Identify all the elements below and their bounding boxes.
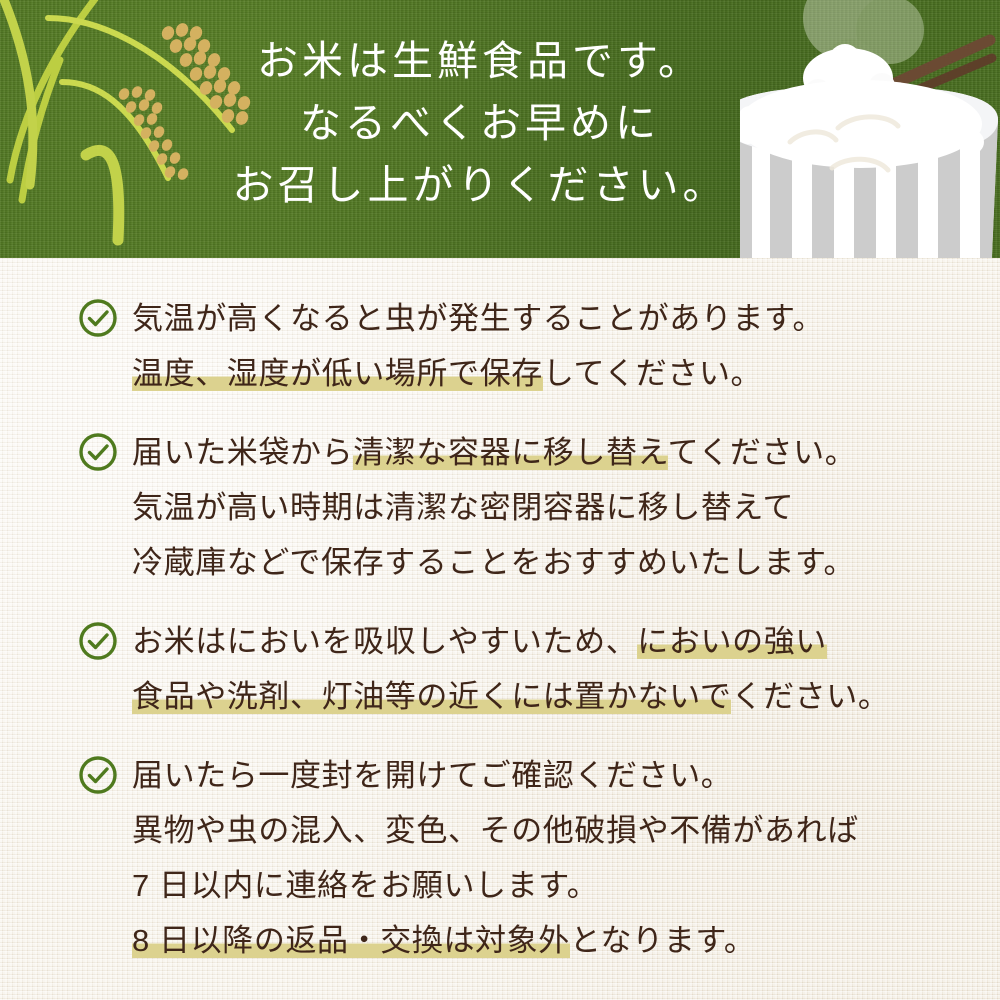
rice-storage-notice-page: お米は生鮮食品です。 なるべくお早めに お召し上がりください。	[0, 0, 1000, 1000]
notice-line: 異物や虫の混入、変色、その他破損や不備があれば	[132, 803, 1000, 858]
plain-text: てください。	[668, 435, 857, 470]
plain-text: お米はにおいを吸収しやすいため、	[132, 624, 637, 659]
plain-text: 異物や虫の混入、変色、その他破損や不備があれば	[132, 813, 859, 848]
notice-line: 気温が高くなると虫が発生することがあります。	[132, 291, 1000, 346]
notice-line: 気温が高い時期は清潔な密閉容器に移し替えて	[132, 480, 1000, 535]
check-circle-icon	[78, 432, 118, 472]
notice-item-text: 届いた米袋から清潔な容器に移し替えてください。気温が高い時期は清潔な密閉容器に移…	[132, 425, 1000, 590]
notice-line: 届いたら一度封を開けてご確認ください。	[132, 748, 1000, 803]
plain-text: 7 日以内に連絡をお願いします。	[132, 868, 598, 903]
notice-item-text: 気温が高くなると虫が発生することがあります。温度、湿度が低い場所で保存してくださ…	[132, 291, 1000, 401]
notice-item: 気温が高くなると虫が発生することがあります。温度、湿度が低い場所で保存してくださ…	[0, 291, 1000, 401]
notice-line: お米はにおいを吸収しやすいため、においの強い	[132, 614, 1000, 669]
highlighted-text: 食品や洗剤、灯油等の近くには置かないで	[132, 679, 731, 714]
notice-item: 届いた米袋から清潔な容器に移し替えてください。気温が高い時期は清潔な密閉容器に移…	[0, 425, 1000, 590]
plain-text: 気温が高い時期は清潔な密閉容器に移し替えて	[132, 490, 794, 525]
plain-text: 届いた米袋から	[132, 435, 353, 470]
header-title-line-2: なるべくお早めに	[180, 92, 780, 154]
notice-item-text: お米はにおいを吸収しやすいため、においの強い食品や洗剤、灯油等の近くには置かない…	[132, 614, 1000, 724]
plain-text: 届いたら一度封を開けてご確認ください。	[132, 758, 732, 793]
notice-line: 7 日以内に連絡をお願いします。	[132, 858, 1000, 913]
notice-item: 届いたら一度封を開けてご確認ください。異物や虫の混入、変色、その他破損や不備があ…	[0, 748, 1000, 968]
notice-body: 気温が高くなると虫が発生することがあります。温度、湿度が低い場所で保存してくださ…	[0, 258, 1000, 1000]
notice-item: お米はにおいを吸収しやすいため、においの強い食品や洗剤、灯油等の近くには置かない…	[0, 614, 1000, 724]
highlighted-text: 8 日以降の返品・交換は対象外	[132, 923, 570, 958]
notice-line: 食品や洗剤、灯油等の近くには置かないでください。	[132, 669, 1000, 724]
highlighted-text: においの強い	[637, 624, 827, 659]
highlighted-text: 温度、湿度が低い場所で保存	[132, 356, 543, 391]
highlighted-text: 清潔な容器に移し替え	[353, 435, 667, 470]
check-circle-icon	[78, 298, 118, 338]
plain-text: してください。	[543, 356, 762, 391]
notice-line: 温度、湿度が低い場所で保存してください。	[132, 346, 1000, 401]
notice-item-text: 届いたら一度封を開けてご確認ください。異物や虫の混入、変色、その他破損や不備があ…	[132, 748, 1000, 968]
header-banner: お米は生鮮食品です。 なるべくお早めに お召し上がりください。	[0, 0, 1000, 258]
notice-line: 届いた米袋から清潔な容器に移し替えてください。	[132, 425, 1000, 480]
notice-line: 冷蔵庫などで保存することをおすすめいたします。	[132, 535, 1000, 590]
plain-text: 気温が高くなると虫が発生することがあります。	[132, 301, 824, 336]
plain-text: 冷蔵庫などで保存することをおすすめいたします。	[132, 545, 855, 580]
notice-list: 気温が高くなると虫が発生することがあります。温度、湿度が低い場所で保存してくださ…	[0, 258, 1000, 968]
plain-text: ください。	[731, 679, 889, 714]
plain-text: となります。	[570, 923, 756, 958]
check-circle-icon	[78, 621, 118, 661]
header-title-line-3: お召し上がりください。	[180, 154, 780, 216]
notice-line: 8 日以降の返品・交換は対象外となります。	[132, 913, 1000, 968]
header-title: お米は生鮮食品です。 なるべくお早めに お召し上がりください。	[180, 30, 780, 216]
check-circle-icon	[78, 755, 118, 795]
header-title-line-1: お米は生鮮食品です。	[180, 30, 780, 92]
